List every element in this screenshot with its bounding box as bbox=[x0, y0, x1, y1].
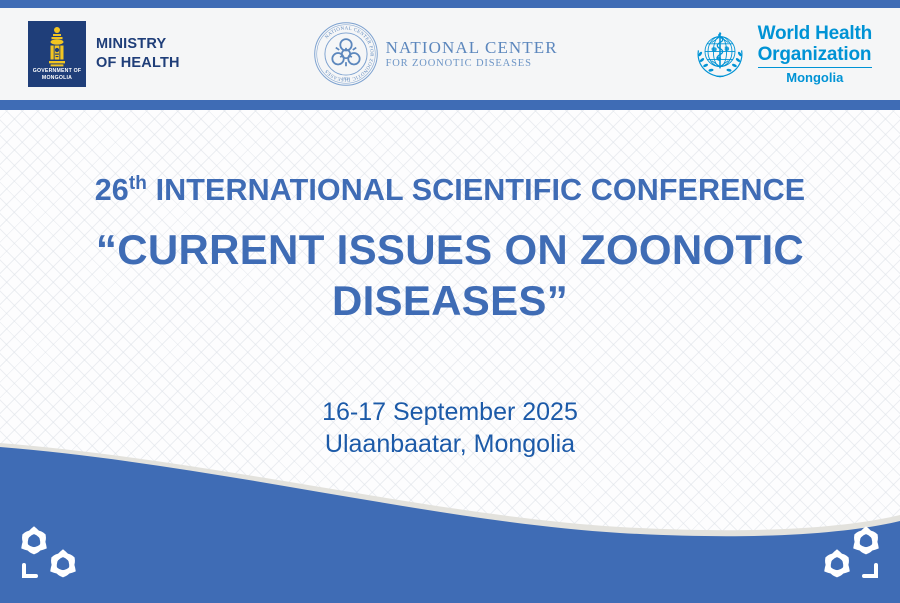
conference-heading: 26th INTERNATIONAL SCIENTIFIC CONFERENCE bbox=[0, 172, 900, 208]
soyombo-emblem-icon bbox=[42, 26, 72, 70]
ministry-of-health-logo: GOVERNMENT OF MONGOLIA MINISTRY OF HEALT… bbox=[28, 21, 180, 87]
national-center-subtitle: FOR ZOONOTIC DISEASES bbox=[386, 57, 558, 70]
triquetra-knot-ornament-left-icon bbox=[14, 523, 86, 585]
who-mongolia-logo: World Health Organization Mongolia bbox=[690, 23, 872, 86]
biohazard-seal-icon: NATIONAL CENTER FOR ZOONOTIC DISEASES 19… bbox=[312, 20, 380, 88]
who-country-label: Mongolia bbox=[758, 70, 872, 85]
bottom-wave-decoration bbox=[0, 443, 900, 603]
conference-title-slide: GOVERNMENT OF MONGOLIA MINISTRY OF HEALT… bbox=[0, 0, 900, 603]
triquetra-knot-ornament-right-icon bbox=[814, 523, 886, 585]
national-center-text: NATIONAL CENTER FOR ZOONOTIC DISEASES bbox=[386, 38, 558, 70]
who-wordmark: World Health Organization Mongolia bbox=[758, 23, 872, 86]
conference-theme-title: “CURRENT ISSUES ON ZOONOTIC DISEASES” bbox=[0, 224, 900, 326]
who-name-line2: Organization bbox=[758, 44, 872, 65]
conference-dates: 16-17 September 2025 bbox=[0, 396, 900, 428]
top-accent-bar bbox=[0, 0, 900, 8]
slide-content: 26th INTERNATIONAL SCIENTIFIC CONFERENCE… bbox=[0, 110, 900, 460]
who-divider-rule bbox=[758, 67, 872, 69]
conference-ordinal-suffix: th bbox=[129, 173, 147, 194]
mongolia-emblem-caption: GOVERNMENT OF MONGOLIA bbox=[28, 68, 86, 82]
who-name-line1: World Health bbox=[758, 23, 872, 44]
ministry-of-health-name: MINISTRY OF HEALTH bbox=[96, 35, 180, 73]
wave-main-layer bbox=[0, 447, 900, 603]
conference-label: INTERNATIONAL SCIENTIFIC CONFERENCE bbox=[156, 173, 806, 207]
svg-text:1931: 1931 bbox=[341, 76, 349, 81]
who-emblem-icon bbox=[690, 24, 750, 84]
mongolia-government-emblem: GOVERNMENT OF MONGOLIA bbox=[28, 21, 86, 87]
svg-text:NATIONAL CENTER FOR ZOONOTIC D: NATIONAL CENTER FOR ZOONOTIC DISEASES bbox=[324, 26, 373, 81]
header-logo-band: GOVERNMENT OF MONGOLIA MINISTRY OF HEALT… bbox=[0, 8, 900, 100]
header-divider-bar bbox=[0, 100, 900, 110]
national-center-title: NATIONAL CENTER bbox=[386, 38, 558, 57]
conference-number: 26 bbox=[95, 173, 129, 207]
national-center-zoonotic-diseases-logo: NATIONAL CENTER FOR ZOONOTIC DISEASES 19… bbox=[312, 20, 558, 88]
